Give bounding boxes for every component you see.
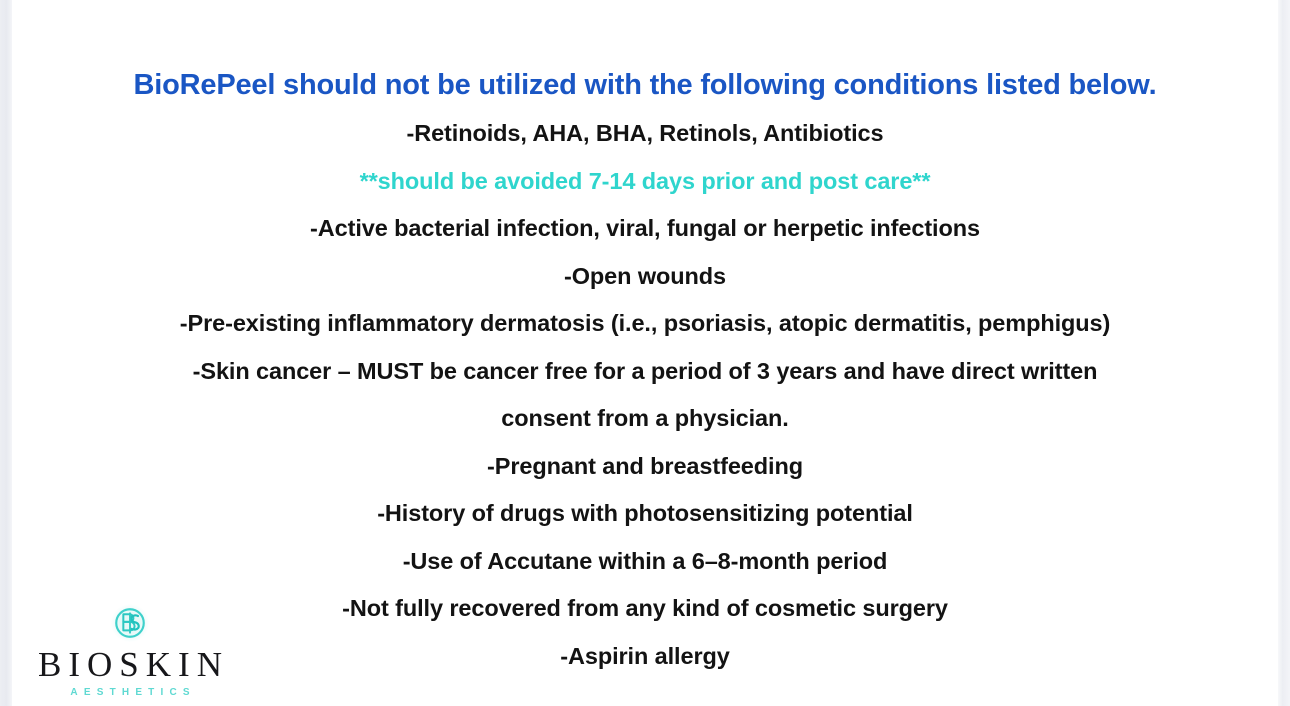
list-item: -Use of Accutane within a 6–8-month peri… xyxy=(52,538,1238,586)
conditions-list: -Retinoids, AHA, BHA, Retinols, Antibiot… xyxy=(52,110,1238,680)
page-gutter-left xyxy=(0,0,12,706)
list-item: -History of drugs with photosensitizing … xyxy=(52,490,1238,538)
slide-viewport: BioRePeel should not be utilized with th… xyxy=(0,0,1290,706)
list-item: **should be avoided 7-14 days prior and … xyxy=(52,158,1238,206)
list-item: -Pre-existing inflammatory dermatosis (i… xyxy=(52,300,1238,348)
slide-canvas: BioRePeel should not be utilized with th… xyxy=(12,0,1278,706)
list-item-continuation: consent from a physician. xyxy=(52,395,1238,443)
list-item: -Active bacterial infection, viral, fung… xyxy=(52,205,1238,253)
list-item: -Retinoids, AHA, BHA, Retinols, Antibiot… xyxy=(52,110,1238,158)
list-item: -Open wounds xyxy=(52,253,1238,301)
brand-wordmark: BIOSKIN xyxy=(30,647,230,683)
list-item: -Pregnant and breastfeeding xyxy=(52,443,1238,491)
list-item: -Skin cancer – MUST be cancer free for a… xyxy=(52,348,1238,396)
page-title: BioRePeel should not be utilized with th… xyxy=(12,69,1278,102)
page-gutter-right xyxy=(1278,0,1290,706)
brand-tagline: AESTHETICS xyxy=(30,688,230,698)
bioskin-monogram-icon xyxy=(110,603,150,643)
brand-logo: BIOSKIN AESTHETICS xyxy=(30,603,230,698)
